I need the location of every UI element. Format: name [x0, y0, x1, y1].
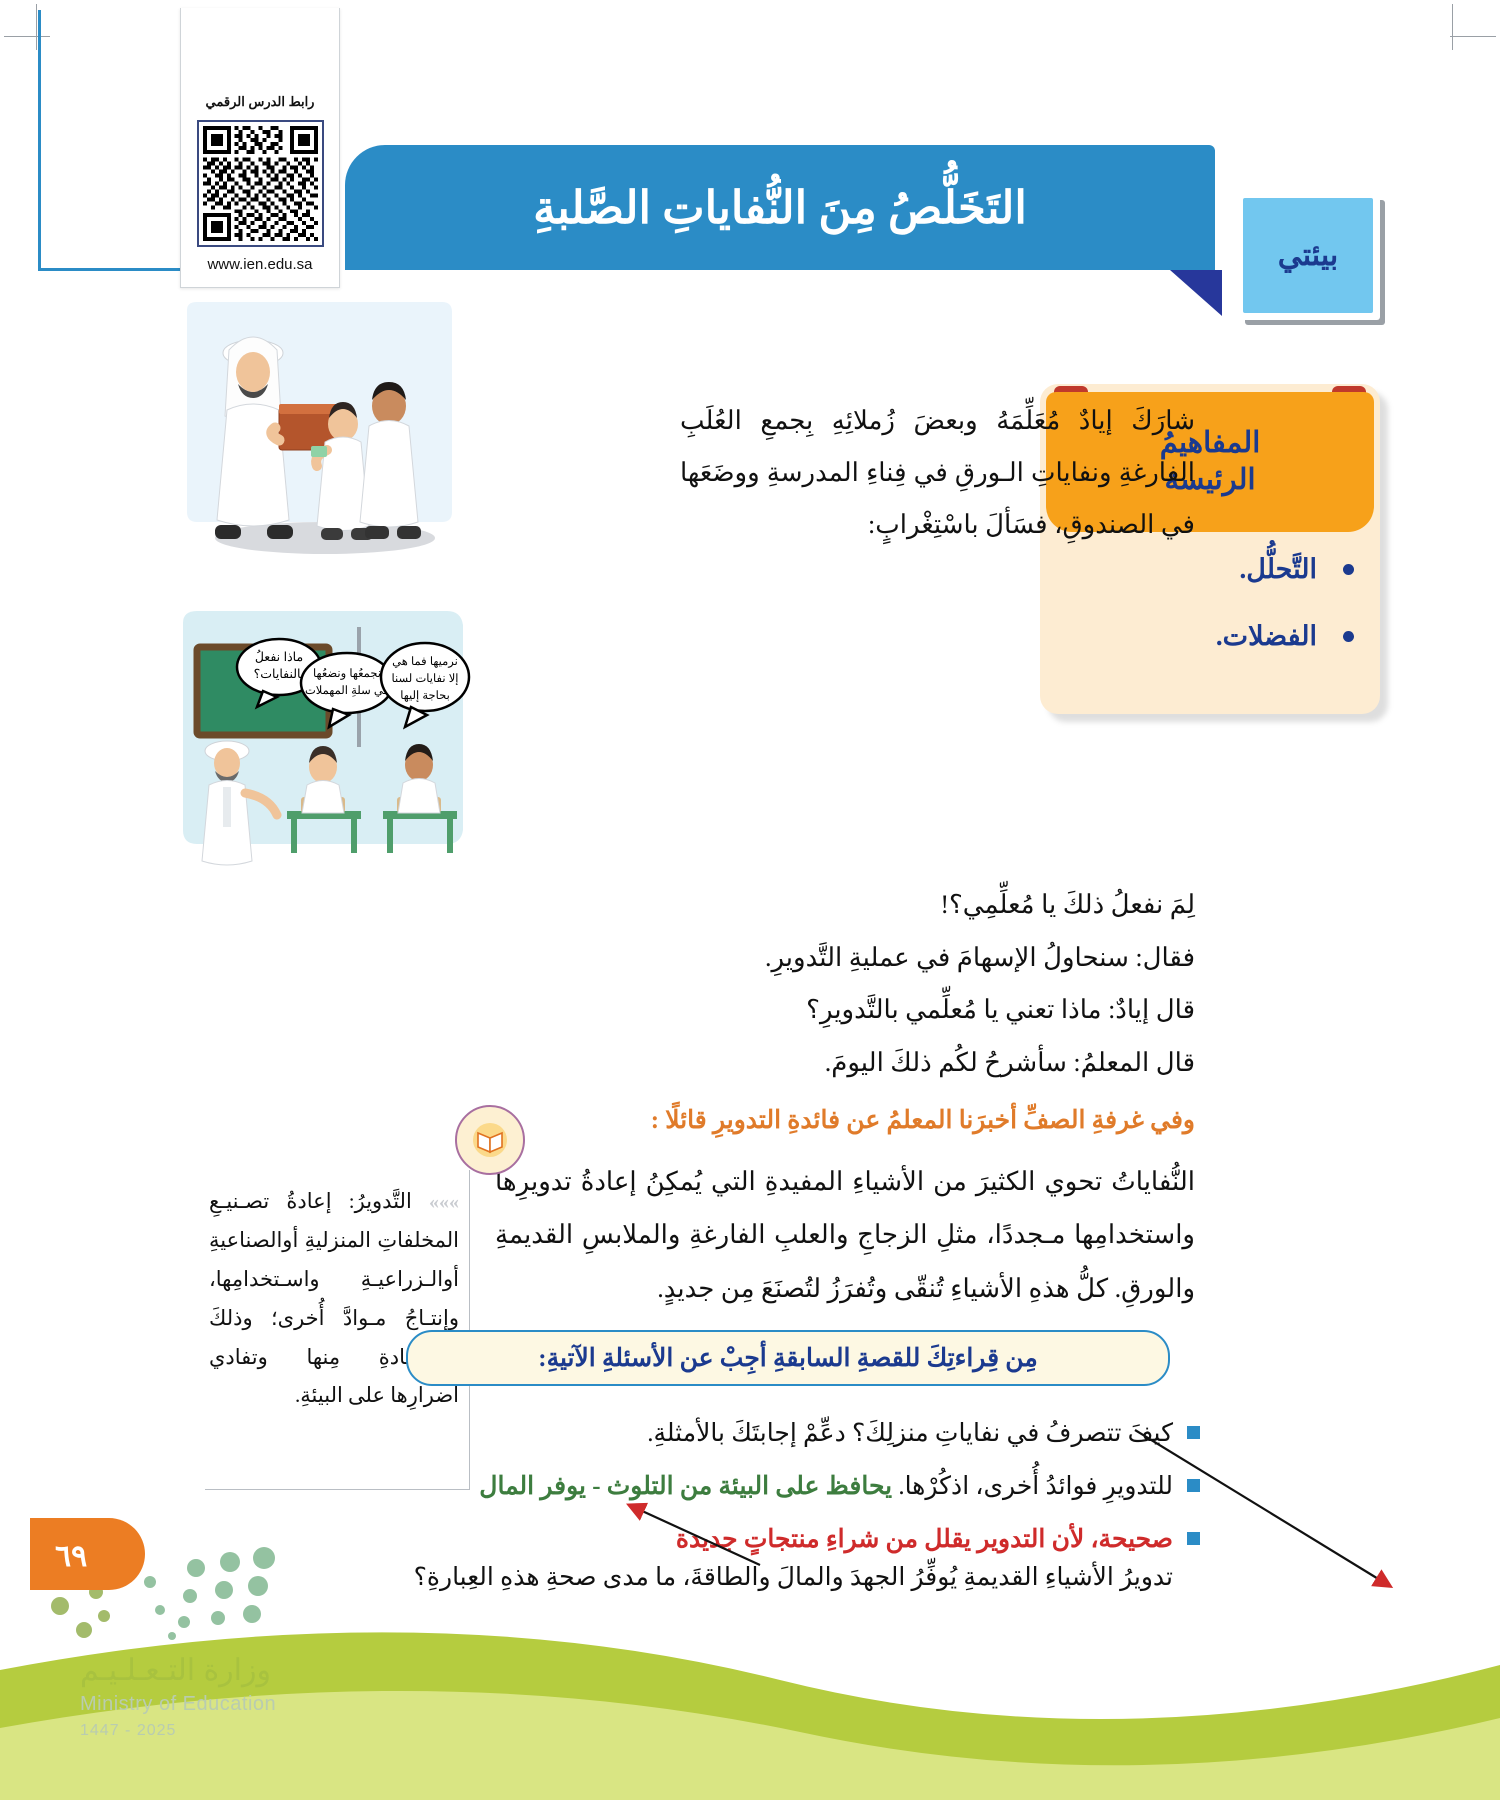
page-number-pill: [30, 1518, 145, 1590]
square-bullet-icon: [1187, 1426, 1200, 1439]
dialogue-line: قال المعلمُ: سأشرحُ لكُم ذلكَ اليومَ.: [495, 1038, 1195, 1089]
dialogue-line: قال إيادٌ: ماذا تعني يا مُعلِّمي بالتَّد…: [495, 985, 1195, 1036]
questions-prompt-banner: مِن قِراءتِكَ للقصةِ السابقةِ أجِبْ عن ا…: [406, 1330, 1170, 1386]
ministry-year: 2025 - 1447: [80, 1722, 176, 1740]
question-text: كيفَ تتصرفُ في نفاياتِ منزلِكَ؟ دعِّمْ إ…: [410, 1415, 1173, 1454]
crop-mark: [36, 4, 37, 50]
dialogue-block: لِمَ نفعلُ ذلكَ يا مُعلِّمِي؟! فقال: سنح…: [495, 880, 1195, 1091]
crop-mark: [1450, 36, 1496, 37]
illustration-classroom-discussion: ماذا نفعلُ بالنفايات؟ نجمعُها ونضعُها في…: [175, 605, 475, 875]
svg-text:نجمعُها ونضعُها: نجمعُها ونضعُها: [313, 667, 381, 680]
page-title: التَخَلُّصُ مِنَ النُّفاياتِ الصَّلبةِ: [533, 181, 1027, 234]
questions-prompt-text: مِن قِراءتِكَ للقصةِ السابقةِ أجِبْ عن ا…: [538, 1343, 1037, 1373]
ministry-name-english: Ministry of Education: [80, 1693, 276, 1716]
bullet-icon: [1343, 564, 1354, 575]
dialogue-line: فقال: سنحاولُ الإسهامَ في عمليةِ التَّدو…: [495, 933, 1195, 984]
svg-text:في سلةِ المهملات: في سلةِ المهملات: [305, 684, 389, 697]
bullet-icon: [1343, 631, 1354, 642]
list-item: الفضلات.: [1066, 621, 1354, 652]
body-paragraph: النُّفاياتُ تحوي الكثيرَ من الأشياءِ الم…: [495, 1155, 1195, 1315]
left-accent-rule: [38, 10, 41, 270]
svg-text:إلا نفايات لسنا: إلا نفايات لسنا: [392, 672, 459, 686]
key-concepts-list: التَّحلُّل. الفضلات.: [1066, 554, 1354, 688]
digital-lesson-qr-card[interactable]: رابط الدرس الرقمي: [180, 8, 340, 288]
ministry-name-arabic: وزارة التـعـلـيـم: [80, 1653, 271, 1688]
page-number: ٦٩: [55, 1539, 87, 1574]
svg-text:ماذا نفعلُ: ماذا نفعلُ: [255, 648, 303, 664]
question-item: كيفَ تتصرفُ في نفاياتِ منزلِكَ؟ دعِّمْ إ…: [410, 1415, 1200, 1454]
illustration-collecting-waste: [175, 300, 475, 590]
story-intro-paragraph: شارَكَ إيادٌ مُعَلِّمَهُ وبعضَ زُملائِهِ…: [680, 395, 1195, 551]
qr-caption: رابط الدرس الرقمي: [206, 94, 315, 110]
dialogue-line: لِمَ نفعلُ ذلكَ يا مُعلِّمِي؟!: [495, 880, 1195, 931]
textbook-page: رابط الدرس الرقمي: [0, 0, 1500, 1800]
svg-text:نرميها فما هي: نرميها فما هي: [392, 655, 458, 668]
quote-icon: »»»: [429, 1191, 459, 1213]
unit-tab-label: بيئتي: [1278, 238, 1339, 273]
page-footer: ٦٩ وزارة التـعـلـيـم Ministry of Educati…: [0, 1470, 1500, 1800]
concept-label: الفضلات.: [1216, 621, 1317, 652]
teacher-intro-line: وفي غرفةِ الصفِّ أخبرَنا المعلمُ عن فائد…: [495, 1105, 1195, 1135]
qr-code-image[interactable]: [197, 120, 324, 247]
lesson-title-banner: التَخَلُّصُ مِنَ النُّفاياتِ الصَّلبةِ: [345, 145, 1215, 270]
book-icon: [455, 1105, 525, 1175]
banner-fold-decoration: [1170, 270, 1222, 316]
list-item: التَّحلُّل.: [1066, 554, 1354, 585]
qr-url-label: www.ien.edu.sa: [207, 256, 312, 273]
crop-mark: [4, 36, 50, 37]
svg-text:بالنفايات؟: بالنفايات؟: [254, 667, 305, 681]
unit-tab[interactable]: بيئتي: [1243, 198, 1373, 313]
svg-text:بحاجة إليها: بحاجة إليها: [400, 689, 450, 703]
concept-label: التَّحلُّل.: [1240, 554, 1317, 585]
crop-mark: [1452, 4, 1453, 50]
